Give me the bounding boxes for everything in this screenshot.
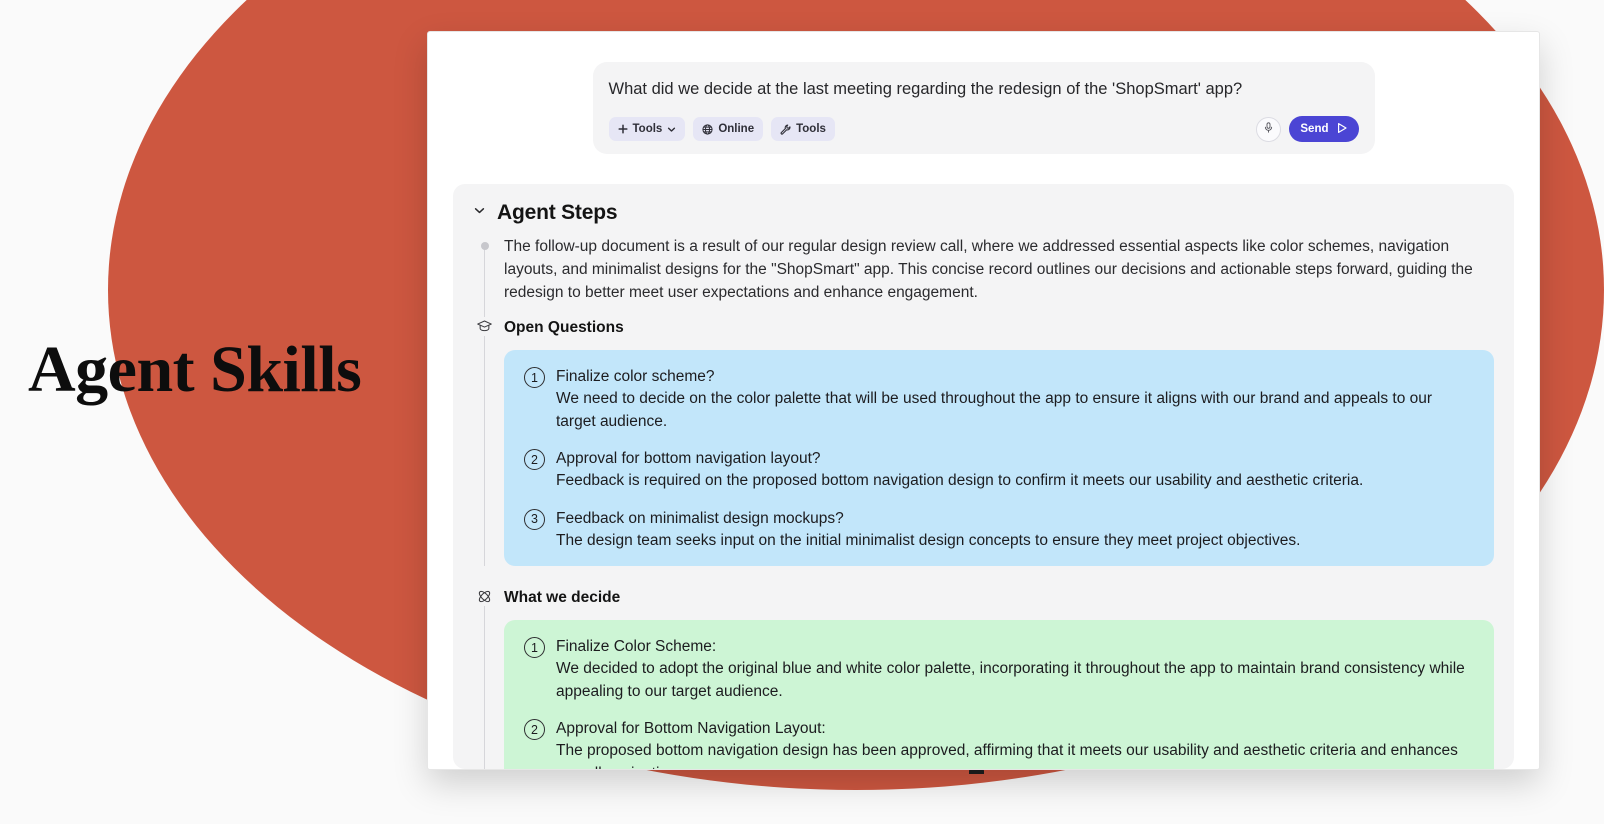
item-number: 2: [524, 719, 545, 740]
list-item: 2 Approval for bottom navigation layout?…: [524, 448, 1474, 493]
page-title: Agent Skills: [28, 333, 361, 407]
timeline-line: [484, 318, 485, 566]
list-item: 3 Feedback on minimalist design mockups?…: [524, 508, 1474, 553]
item-description: We need to decide on the color palette t…: [556, 388, 1474, 433]
globe-icon: [702, 124, 713, 135]
list-item: 2 Approval for Bottom Navigation Layout:…: [524, 718, 1474, 769]
item-description: The proposed bottom navigation design ha…: [556, 740, 1474, 769]
item-description: The design team seeks input on the initi…: [556, 530, 1474, 553]
agent-steps-panel: Agent Steps The follow-up document is a …: [453, 184, 1514, 769]
item-title: Approval for Bottom Navigation Layout:: [556, 718, 1474, 740]
agent-steps-intro: The follow-up document is a result of ou…: [504, 235, 1494, 318]
tools-wrench-label: Tools: [796, 123, 826, 135]
open-questions-label: Open Questions: [504, 318, 1494, 337]
timeline-body: The follow-up document is a result of ou…: [504, 235, 1494, 318]
item-content: Finalize Color Scheme: We decided to ado…: [556, 636, 1474, 703]
agent-steps-title: Agent Steps: [497, 201, 617, 225]
send-triangle-icon: [1336, 122, 1348, 137]
wrench-icon: [780, 124, 791, 135]
item-content: Finalize color scheme? We need to decide…: [556, 366, 1474, 433]
what-we-decide-label: What we decide: [504, 588, 1494, 607]
send-button[interactable]: Send: [1289, 116, 1358, 142]
timeline-line: [484, 588, 485, 769]
item-content: Approval for Bottom Navigation Layout: T…: [556, 718, 1474, 769]
agent-steps-header[interactable]: Agent Steps: [473, 201, 1494, 225]
online-toggle-button[interactable]: Online: [693, 117, 763, 141]
item-number: 3: [524, 509, 545, 530]
send-button-label: Send: [1300, 123, 1328, 135]
open-questions-card: 1 Finalize color scheme? We need to deci…: [504, 350, 1494, 566]
item-content: Approval for bottom navigation layout? F…: [556, 448, 1474, 493]
graduation-cap-icon: [475, 317, 494, 336]
app-window: What did we decide at the last meeting r…: [427, 31, 1540, 770]
timeline-row-open-questions: Open Questions 1 Finalize color scheme? …: [473, 318, 1494, 566]
item-description: We decided to adopt the original blue an…: [556, 658, 1474, 703]
what-we-decide-card: 1 Finalize Color Scheme: We decided to a…: [504, 620, 1494, 769]
item-content: Feedback on minimalist design mockups? T…: [556, 508, 1474, 553]
timeline-gutter: [473, 235, 504, 318]
timeline-gutter: [473, 588, 504, 769]
timeline-dot: [481, 242, 489, 250]
timeline-line: [484, 248, 485, 318]
timeline-row-what-we-decide: What we decide 1 Finalize Color Scheme: …: [473, 588, 1494, 769]
tools-wrench-button[interactable]: Tools: [771, 117, 835, 141]
item-title: Feedback on minimalist design mockups?: [556, 508, 1474, 530]
chevron-down-icon[interactable]: [473, 204, 486, 222]
atom-icon: [475, 587, 494, 606]
prompt-composer[interactable]: What did we decide at the last meeting r…: [593, 62, 1375, 154]
timeline-gutter: [473, 318, 504, 566]
chevron-down-icon: [667, 125, 676, 134]
timeline-body: What we decide 1 Finalize Color Scheme: …: [504, 588, 1494, 769]
item-title: Finalize Color Scheme:: [556, 636, 1474, 658]
list-item: 1 Finalize Color Scheme: We decided to a…: [524, 636, 1474, 703]
timeline-body: Open Questions 1 Finalize color scheme? …: [504, 318, 1494, 566]
online-label: Online: [718, 123, 754, 135]
item-number: 2: [524, 449, 545, 470]
item-title: Approval for bottom navigation layout?: [556, 448, 1474, 470]
item-number: 1: [524, 367, 545, 388]
tools-menu-button[interactable]: Tools: [609, 117, 686, 141]
microphone-button[interactable]: [1256, 117, 1281, 142]
composer-toolbar: Tools Online: [609, 116, 1359, 142]
timeline-row-intro: The follow-up document is a result of ou…: [473, 235, 1494, 318]
microphone-icon: [1263, 120, 1274, 138]
item-title: Finalize color scheme?: [556, 366, 1474, 388]
tools-menu-label: Tools: [633, 123, 663, 135]
list-item: 1 Finalize color scheme? We need to deci…: [524, 366, 1474, 433]
prompt-input[interactable]: What did we decide at the last meeting r…: [609, 78, 1359, 100]
plus-icon: [618, 124, 628, 134]
item-description: Feedback is required on the proposed bot…: [556, 470, 1474, 493]
item-number: 1: [524, 637, 545, 658]
